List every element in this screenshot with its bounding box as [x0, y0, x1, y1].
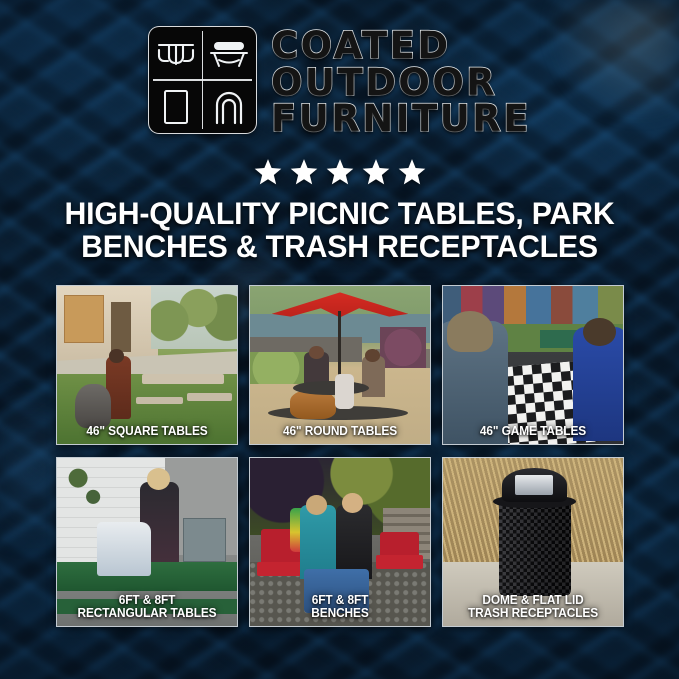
product-tile-benches[interactable]: 6FT & 8FT BENCHES [249, 457, 431, 627]
star-icon [326, 158, 354, 186]
headline-line-2: BENCHES & TRASH RECEPTACLES [37, 230, 643, 263]
product-photo-round-tables [250, 286, 430, 444]
picnic-table-icon [149, 27, 203, 80]
brand-wordmark: COATED OUTDOOR FURNITURE [271, 26, 531, 137]
brand-line-furniture: FURNITURE [271, 101, 531, 137]
product-tile-round-tables[interactable]: 46" ROUND TABLES [249, 285, 431, 445]
product-tile-caption: 6FT & 8FT BENCHES [255, 594, 426, 620]
product-tile-caption: 46" ROUND TABLES [255, 425, 426, 438]
product-tile-caption: 6FT & 8FT RECTANGULAR TABLES [62, 594, 233, 620]
brand-logo: COATED OUTDOOR FURNITURE [0, 26, 679, 137]
product-tile-game-tables[interactable]: 46" GAME TABLES [442, 285, 624, 445]
product-category-grid: 46" SQUARE TABLES 46" ROUND TABLES 46" [56, 285, 624, 627]
headline: HIGH-QUALITY PICNIC TABLES, PARK BENCHES… [37, 197, 643, 264]
product-tile-caption: 46" SQUARE TABLES [62, 425, 233, 438]
bike-rack-arch-icon [202, 80, 256, 133]
star-icon [398, 158, 426, 186]
star-icon [254, 158, 282, 186]
product-tile-square-tables[interactable]: 46" SQUARE TABLES [56, 285, 238, 445]
star-icon [362, 158, 390, 186]
product-tile-rectangular-tables[interactable]: 6FT & 8FT RECTANGULAR TABLES [56, 457, 238, 627]
logo-mark-four-quadrant-icon [148, 26, 257, 134]
product-photo-game-tables [443, 286, 623, 444]
brand-line-outdoor: OUTDOOR [271, 65, 497, 101]
trash-receptacle-icon [149, 80, 203, 133]
rating-stars [0, 158, 679, 186]
star-icon [290, 158, 318, 186]
product-photo-square-tables [57, 286, 237, 444]
product-tile-caption: DOME & FLAT LID TRASH RECEPTACLES [448, 594, 619, 620]
product-tile-trash-receptacles[interactable]: DOME & FLAT LID TRASH RECEPTACLES [442, 457, 624, 627]
headline-line-1: HIGH-QUALITY PICNIC TABLES, PARK [65, 195, 615, 231]
brand-line-coated: COATED [271, 28, 451, 64]
product-tile-caption: 46" GAME TABLES [448, 425, 619, 438]
park-bench-icon [202, 27, 256, 80]
